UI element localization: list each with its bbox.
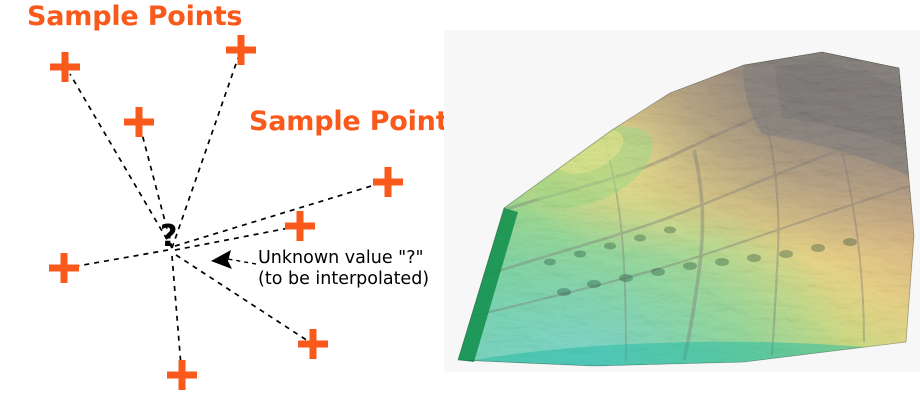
sample-point-marker-right-mid [285,211,315,241]
annotation-leader-line [228,259,256,264]
connector-line-to-sp-left [72,250,168,267]
connector-line-to-sp-right-upper [175,183,381,246]
connector-line-to-sp-top-left [70,74,172,248]
terrain-surface-body [444,30,920,372]
interpolation-connector-lines [70,58,381,366]
sample-point-marker-top-left [50,52,80,82]
sample-point-marker-bottom [167,360,197,390]
connector-line-to-sp-right-mid [175,227,294,250]
terrain-surface-panel [444,30,920,372]
sample-points-label-top: Sample Points [27,3,242,30]
sample-point-marker-upper-mid [124,107,154,137]
unknown-value-annotation: Unknown value "?" (to be interpolated) [258,248,429,290]
sample-point-marker-bottom-right [298,329,328,359]
connector-line-to-sp-bottom [172,256,181,366]
diagram-vector-layer [0,0,444,400]
connector-line-to-sp-top-right [172,58,238,248]
terrain-grain [444,30,920,372]
sample-point-marker-top-right [226,35,256,65]
interpolation-illustration: Sample Points Sample Points ? Unknown va… [0,0,920,400]
sample-point-markers [49,35,403,390]
sample-point-marker-left [49,253,79,283]
sample-points-label-right: Sample Points [249,108,464,135]
unknown-value-marker: ? [160,222,177,252]
terrain-3d-render [444,30,920,372]
sample-point-marker-right-upper [373,167,403,197]
annotation-line-2: (to be interpolated) [258,269,429,290]
sample-points-diagram: Sample Points Sample Points ? Unknown va… [0,0,444,400]
annotation-line-1: Unknown value "?" [258,248,429,269]
